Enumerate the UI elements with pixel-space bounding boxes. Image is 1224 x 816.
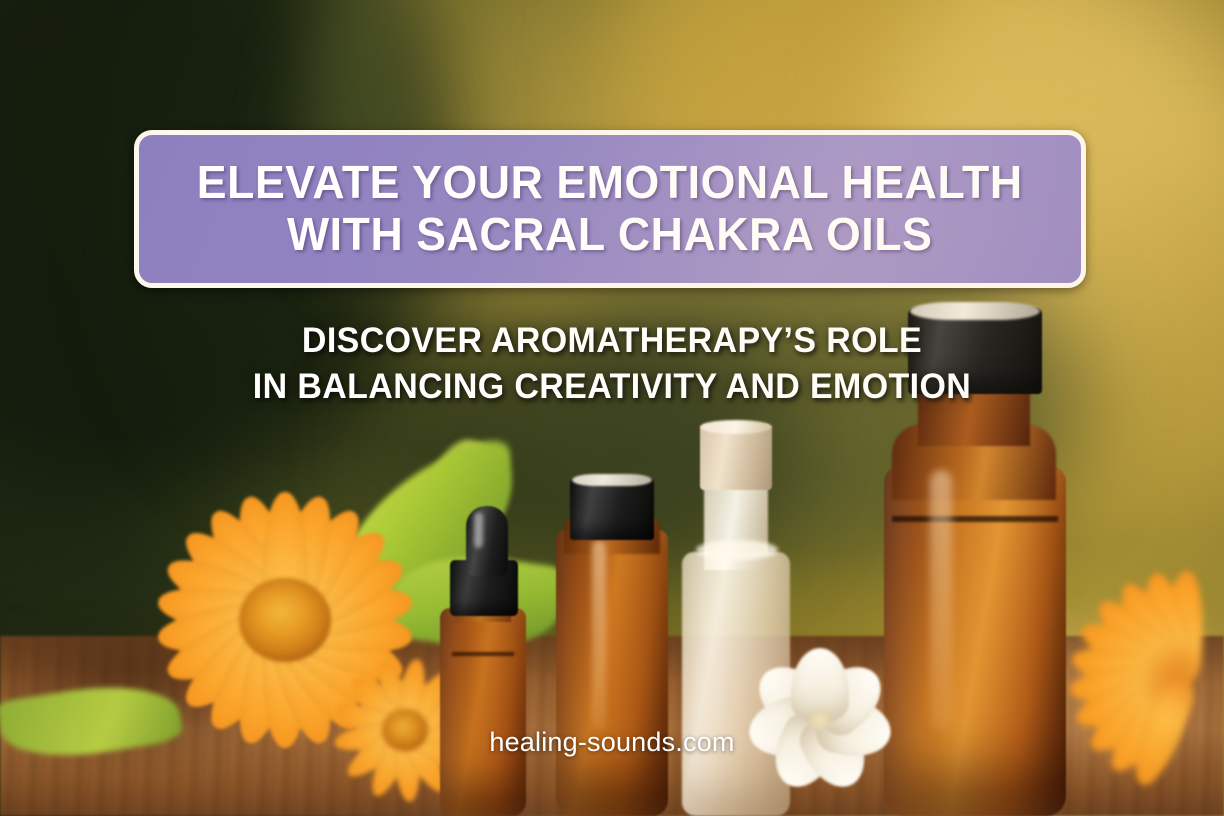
marigold-flower-right — [1050, 556, 1224, 806]
watermark-url: healing-sounds.com — [0, 727, 1224, 758]
title-line-1: ELEVATE YOUR EMOTIONAL HEALTH — [197, 157, 1023, 209]
amber-medium-bottle-cap-top — [572, 474, 652, 486]
white-jasmine-flower — [740, 640, 900, 800]
title-line-2: WITH SACRAL CHAKRA OILS — [287, 209, 932, 261]
amber-dropper-bottle-fill-line — [452, 652, 514, 656]
amber-dropper-bottle-highlight — [474, 512, 483, 548]
amber-large-bottle-cap — [908, 308, 1042, 394]
title-banner: ELEVATE YOUR EMOTIONAL HEALTH WITH SACRA… — [134, 130, 1086, 288]
amber-medium-bottle-highlight — [592, 540, 606, 730]
amber-dropper-bottle-bulb — [466, 506, 508, 576]
hero-banner-image: ELEVATE YOUR EMOTIONAL HEALTH WITH SACRA… — [0, 0, 1224, 816]
amber-large-bottle-fill-line — [892, 516, 1058, 522]
clear-glass-bottle-cap-top — [700, 420, 772, 434]
amber-medium-bottle-cap — [570, 478, 654, 540]
amber-dropper-bottle-body — [440, 608, 526, 816]
amber-large-bottle-highlight — [930, 470, 952, 730]
amber-large-bottle-cap-top — [910, 302, 1040, 320]
amber-medium-bottle-body — [556, 530, 668, 816]
clear-glass-bottle-ring — [696, 540, 778, 560]
